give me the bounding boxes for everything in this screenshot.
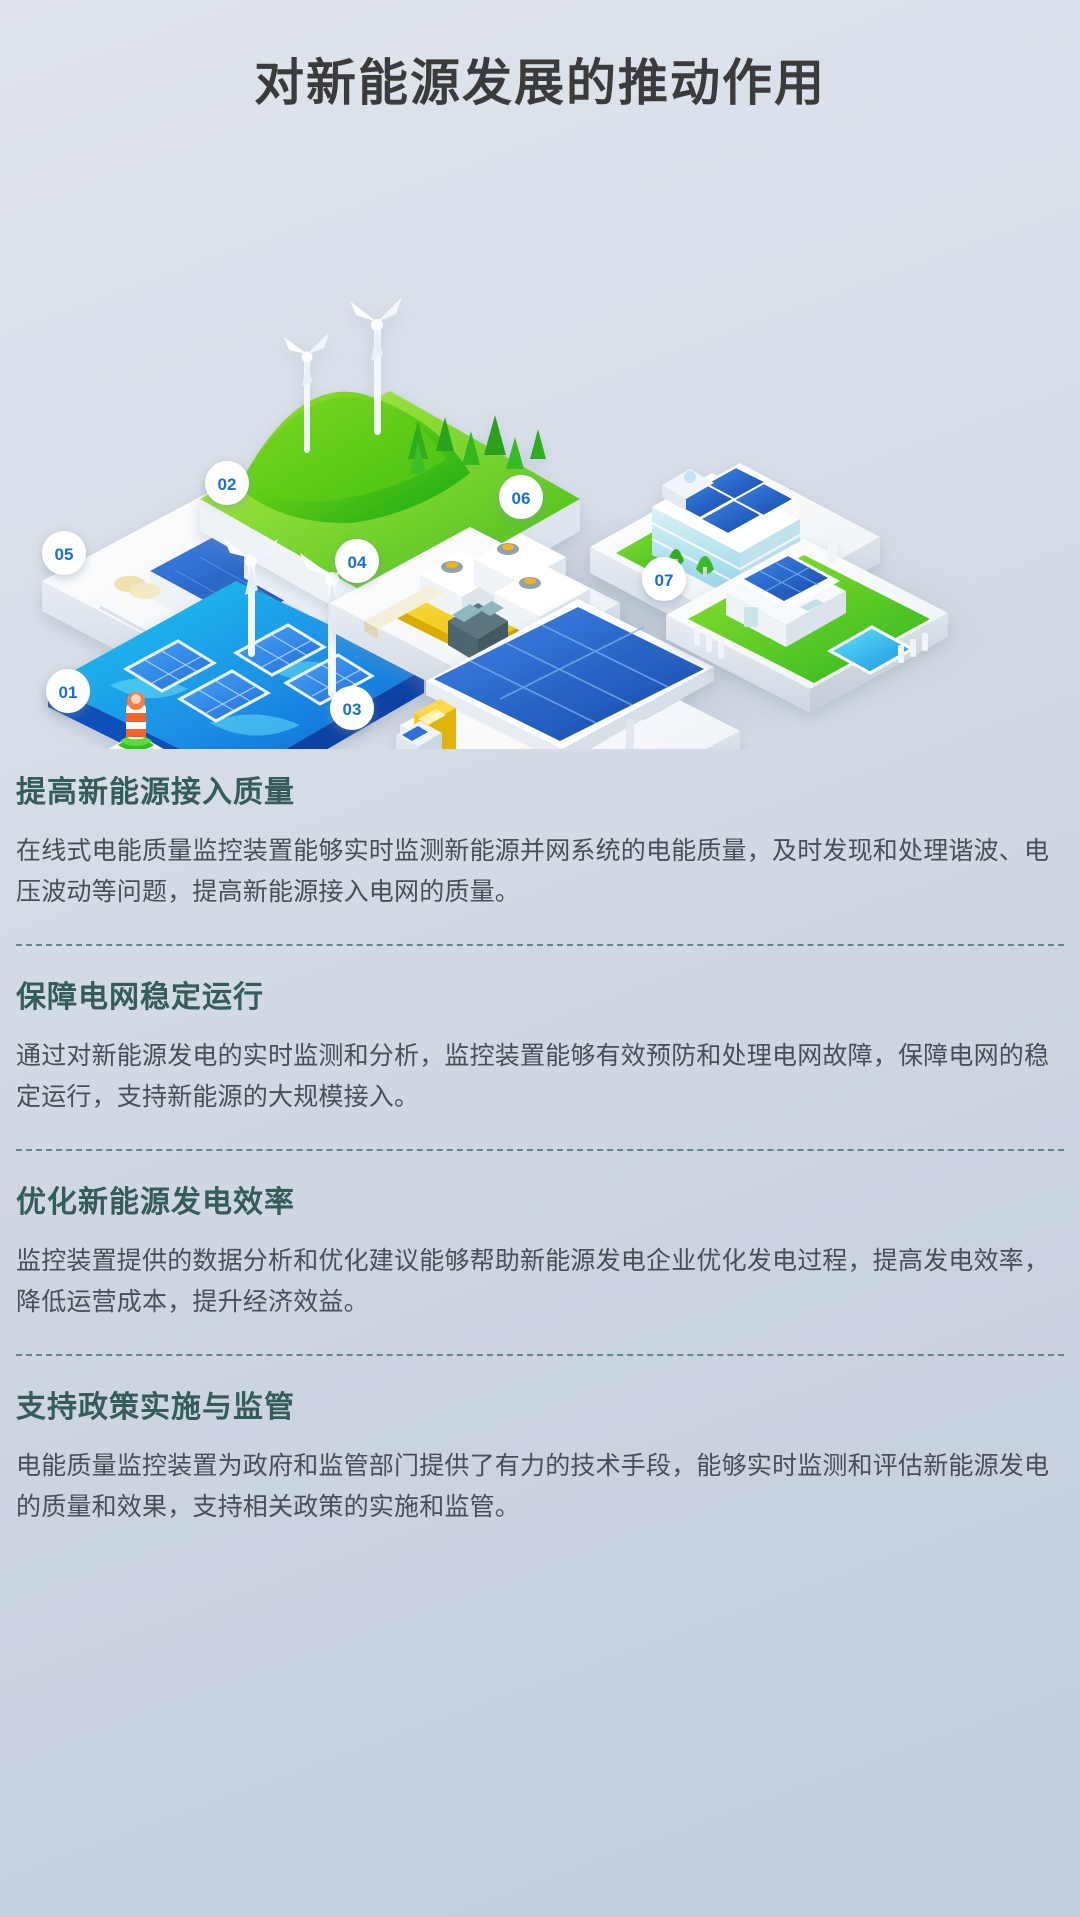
section-divider-3 bbox=[16, 1354, 1064, 1356]
badge-01-label: 01 bbox=[59, 683, 78, 702]
badge-05-label: 05 bbox=[55, 545, 74, 564]
badge-04-label: 04 bbox=[348, 553, 367, 572]
section-3-heading: 优化新能源发电效率 bbox=[16, 1177, 1064, 1221]
content-sections: 提高新能源接入质量 在线式电能质量监控装置能够实时监测新能源并网系统的电能质量，… bbox=[0, 749, 1080, 1529]
badge-02-label: 02 bbox=[218, 475, 237, 494]
page-title: 对新能源发展的推动作用 bbox=[0, 56, 1080, 111]
section-4-body: 电能质量监控装置为政府和监管部门提供了有力的技术手段，能够实时监测和评估新能源发… bbox=[16, 1446, 1064, 1527]
section-1-heading: 提高新能源接入质量 bbox=[16, 767, 1064, 811]
section-divider-1 bbox=[16, 944, 1064, 946]
badge-05[interactable]: 05 bbox=[42, 531, 86, 575]
illustration-new-energy-scene: 01 02 03 04 05 06 07 bbox=[0, 129, 1080, 749]
section-3: 优化新能源发电效率 监控装置提供的数据分析和优化建议能够帮助新能源发电企业优化发… bbox=[16, 1177, 1064, 1324]
section-4-heading: 支持政策实施与监管 bbox=[16, 1382, 1064, 1426]
section-1: 提高新能源接入质量 在线式电能质量监控装置能够实时监测新能源并网系统的电能质量，… bbox=[16, 767, 1064, 914]
badge-04[interactable]: 04 bbox=[335, 539, 379, 583]
isometric-scene-svg: 01 02 03 04 05 06 07 bbox=[0, 129, 1080, 749]
badge-07-label: 07 bbox=[655, 571, 674, 590]
badge-07[interactable]: 07 bbox=[642, 557, 686, 601]
section-1-body: 在线式电能质量监控装置能够实时监测新能源并网系统的电能质量，及时发现和处理谐波、… bbox=[16, 831, 1064, 912]
badge-03-label: 03 bbox=[343, 700, 362, 719]
badge-06-label: 06 bbox=[512, 489, 531, 508]
badge-06[interactable]: 06 bbox=[499, 475, 543, 519]
section-3-body: 监控装置提供的数据分析和优化建议能够帮助新能源发电企业优化发电过程，提高发电效率… bbox=[16, 1241, 1064, 1322]
section-4: 支持政策实施与监管 电能质量监控装置为政府和监管部门提供了有力的技术手段，能够实… bbox=[16, 1382, 1064, 1529]
section-2-heading: 保障电网稳定运行 bbox=[16, 972, 1064, 1016]
section-divider-2 bbox=[16, 1149, 1064, 1151]
badge-03[interactable]: 03 bbox=[330, 686, 374, 730]
section-2: 保障电网稳定运行 通过对新能源发电的实时监测和分析，监控装置能够有效预防和处理电… bbox=[16, 972, 1064, 1119]
section-2-body: 通过对新能源发电的实时监测和分析，监控装置能够有效预防和处理电网故障，保障电网的… bbox=[16, 1036, 1064, 1117]
badge-01[interactable]: 01 bbox=[46, 669, 90, 713]
badge-02[interactable]: 02 bbox=[205, 461, 249, 505]
page-header: 对新能源发展的推动作用 bbox=[0, 0, 1080, 111]
